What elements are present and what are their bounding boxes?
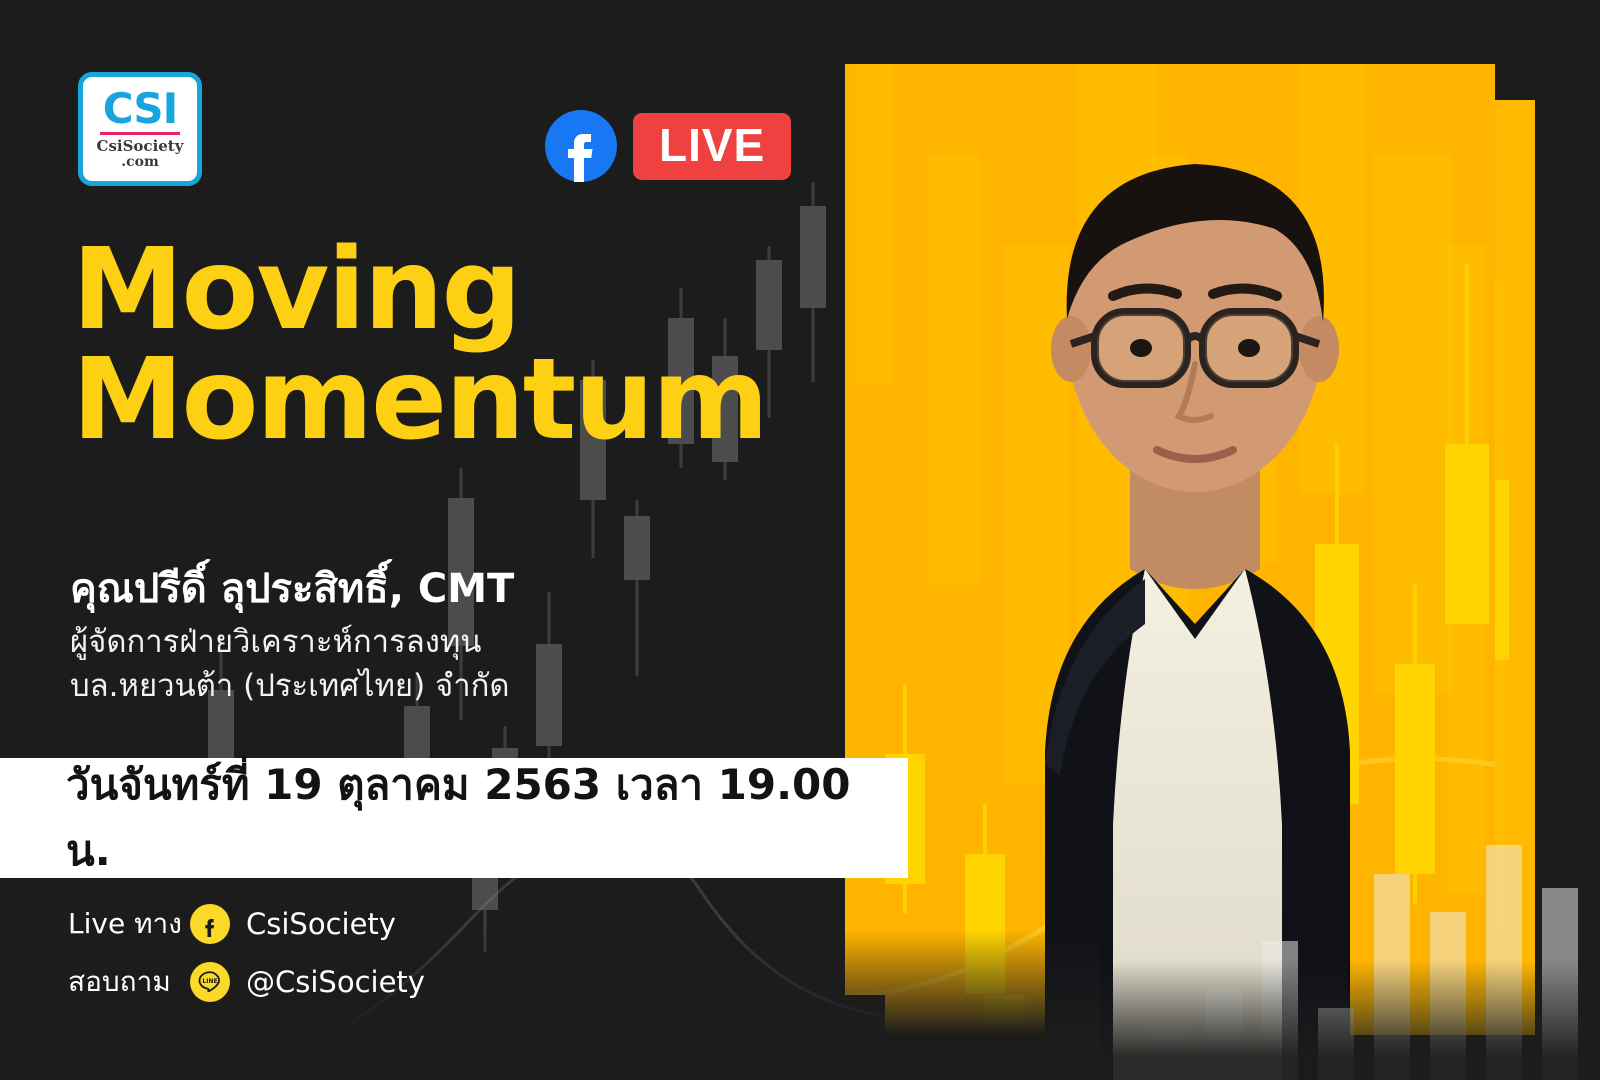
- contact-row-facebook[interactable]: Live ทาง CsiSociety: [68, 895, 425, 953]
- title-line-2: Momentum: [72, 346, 767, 456]
- line-icon[interactable]: LINE: [190, 962, 230, 1002]
- facebook-live-badge[interactable]: LIVE: [545, 110, 791, 182]
- facebook-icon[interactable]: [190, 904, 230, 944]
- schedule-date-text: วันจันทร์ที่ 19 ตุลาคม 2563 เวลา 19.00 น…: [66, 752, 908, 884]
- candlestick: [800, 182, 826, 382]
- contact-handle-line: @CsiSociety: [246, 965, 425, 999]
- candlestick: [624, 500, 650, 676]
- speaker-name: คุณปรีดิ์ ลุประสิทธิ์, CMT: [70, 556, 514, 620]
- page-title: Moving Momentum: [72, 236, 767, 456]
- contact-label-live: Live ทาง: [68, 902, 190, 946]
- contact-label-inquiry: สอบถาม: [68, 960, 190, 1004]
- logo-domain: .com: [121, 155, 159, 170]
- speaker-role-line-2: บล.หยวนต้า (ประเทศไทย) จำกัด: [70, 664, 510, 708]
- schedule-banner: วันจันทร์ที่ 19 ตุลาคม 2563 เวลา 19.00 น…: [0, 758, 908, 878]
- logo-subtitle: CsiSociety: [97, 138, 184, 155]
- candle-body: [536, 644, 562, 746]
- contact-row-line[interactable]: สอบถาม LINE @CsiSociety: [68, 953, 425, 1011]
- poster-canvas: CSI CsiSociety .com LIVE Moving Momentum…: [0, 0, 1600, 1080]
- candle-body: [800, 206, 826, 308]
- speaker-role-line-1: ผู้จัดการฝ่ายวิเคราะห์การลงทุน: [70, 620, 510, 664]
- contact-handle-facebook: CsiSociety: [246, 907, 396, 941]
- bar-chart-fade: [1100, 960, 1600, 1080]
- facebook-icon[interactable]: [545, 110, 617, 182]
- logo-divider: [100, 132, 180, 135]
- contact-block: Live ทาง CsiSociety สอบถาม LINE @CsiSoci…: [68, 895, 425, 1011]
- logo-wordmark: CSI: [103, 89, 177, 129]
- csi-logo[interactable]: CSI CsiSociety .com: [78, 72, 202, 186]
- candle-body: [624, 516, 650, 580]
- title-line-1: Moving: [72, 236, 767, 346]
- svg-text:LINE: LINE: [202, 978, 217, 985]
- speaker-role: ผู้จัดการฝ่ายวิเคราะห์การลงทุน บล.หยวนต้…: [70, 620, 510, 708]
- live-label: LIVE: [633, 113, 791, 180]
